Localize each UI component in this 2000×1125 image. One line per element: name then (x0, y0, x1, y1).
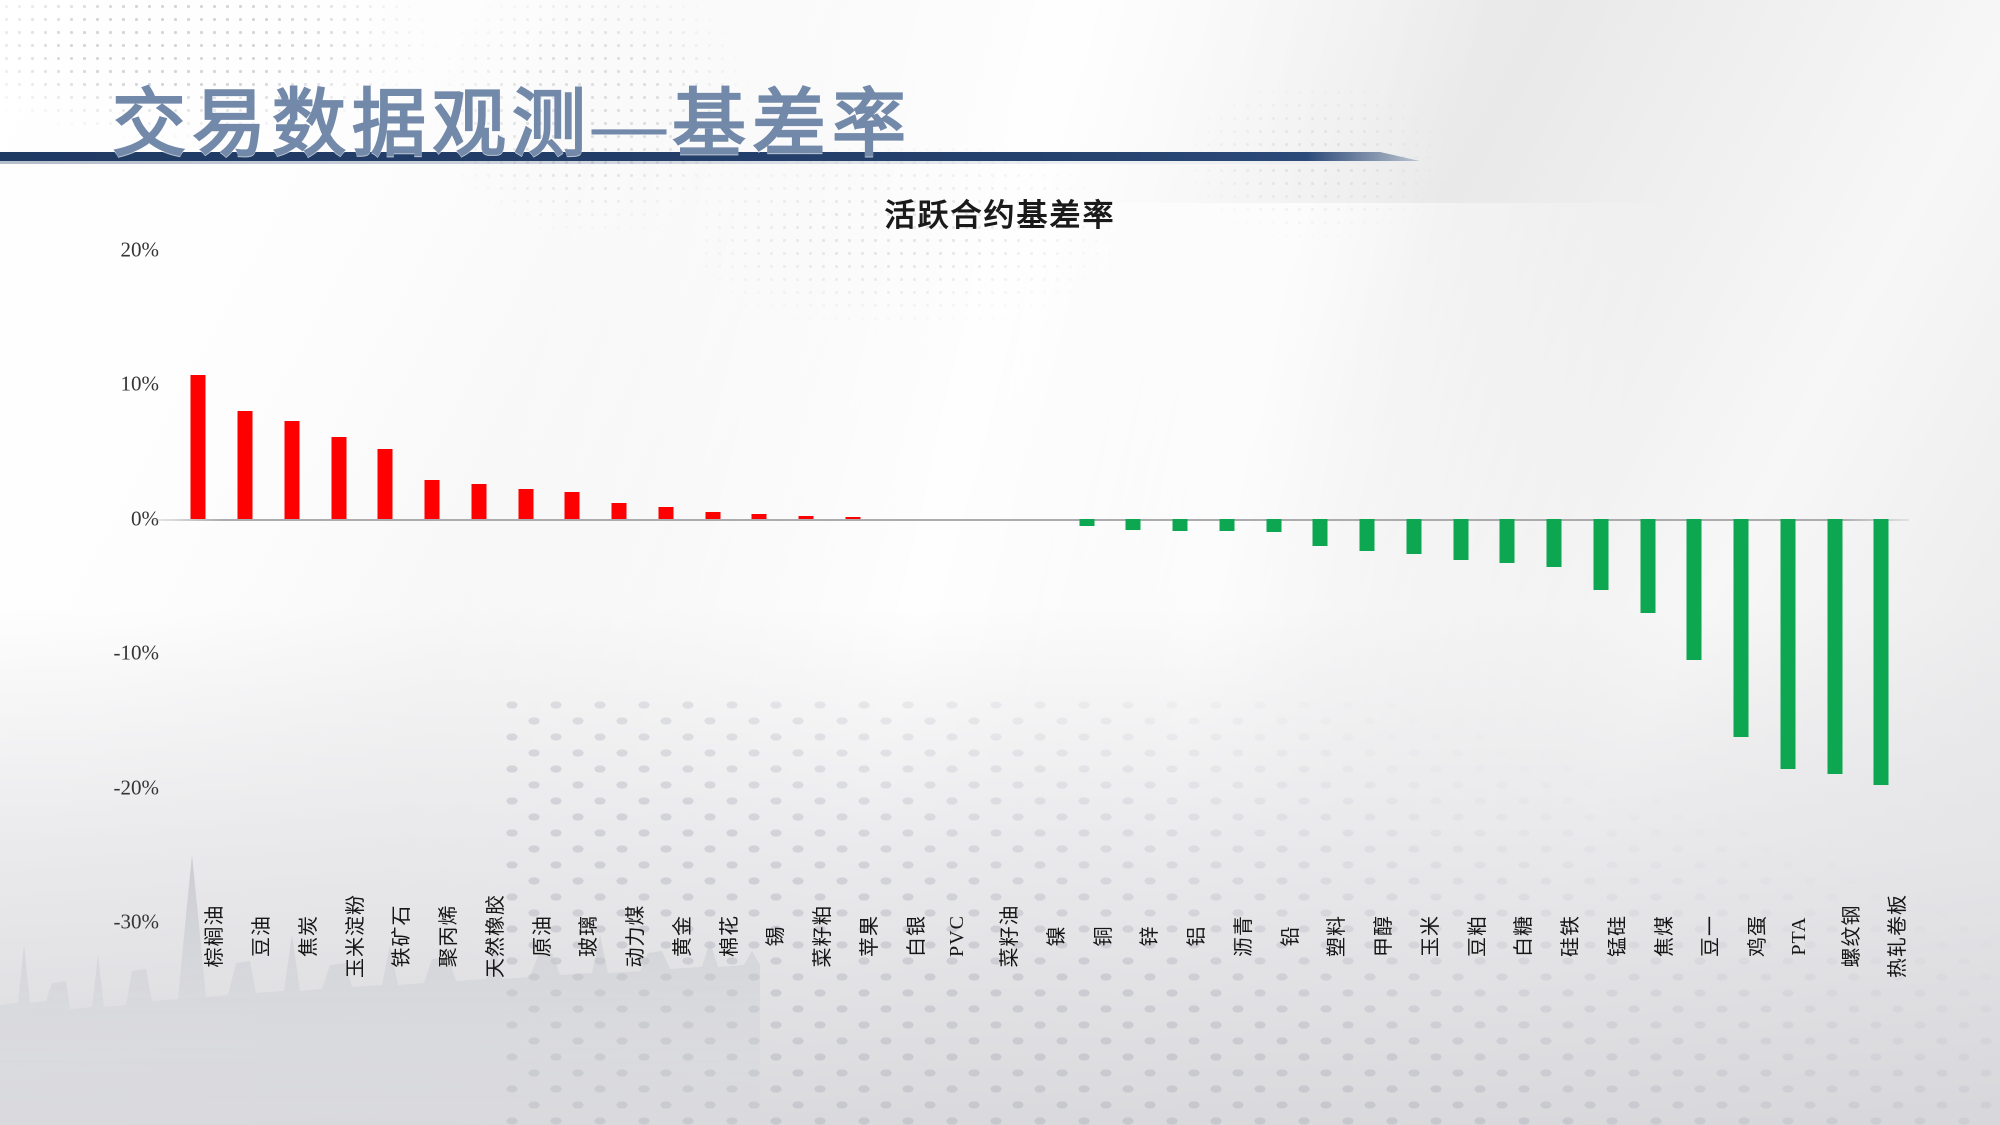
chart-bar[interactable] (378, 449, 393, 519)
chart-bar[interactable] (1500, 519, 1515, 563)
bar-slot: 聚丙烯 (409, 250, 456, 922)
chart-bar[interactable] (1734, 519, 1749, 737)
chart-bar[interactable] (658, 507, 673, 519)
chart-bar[interactable] (1126, 519, 1141, 530)
chart-bar[interactable] (1547, 519, 1562, 567)
bar-slot: 沥青 (1204, 250, 1251, 922)
y-axis-tick-label: -30% (114, 910, 160, 935)
chart-bar[interactable] (1874, 519, 1889, 785)
chart-bar[interactable] (1640, 519, 1655, 613)
bar-slot: 锌 (1110, 250, 1157, 922)
chart-bar[interactable] (1406, 519, 1421, 554)
chart-container: 活跃合约基差率 20%10%0%-10%-20%-30% 棕榈油豆油焦炭玉米淀粉… (0, 190, 2000, 1120)
bar-slot: 原油 (502, 250, 549, 922)
chart-bar[interactable] (471, 484, 486, 519)
y-axis-tick-label: 20% (121, 238, 160, 263)
bar-slot: 铁矿石 (362, 250, 409, 922)
bar-slot: 鸡蛋 (1718, 250, 1765, 922)
bar-slot: 焦炭 (269, 250, 316, 922)
chart-plot-area: 20%10%0%-10%-20%-30% 棕榈油豆油焦炭玉米淀粉铁矿石聚丙烯天然… (175, 250, 1905, 922)
chart-bar[interactable] (1173, 519, 1188, 531)
bar-slot: 塑料 (1297, 250, 1344, 922)
bar-slot: 白银 (876, 250, 923, 922)
x-axis-tick-label: 铝 (1180, 926, 1209, 947)
x-axis-tick-label: 热轧卷板 (1881, 894, 1910, 978)
bar-slot: 豆一 (1671, 250, 1718, 922)
bar-slot: 白糖 (1484, 250, 1531, 922)
x-axis-tick-label: 铜 (1087, 926, 1116, 947)
bar-slot: PVC (923, 250, 970, 922)
bar-slot: 豆粕 (1437, 250, 1484, 922)
bar-slot: 铝 (1157, 250, 1204, 922)
chart-bar[interactable] (1593, 519, 1608, 590)
x-axis-tick-label: 镍 (1040, 926, 1069, 947)
chart-bar[interactable] (1780, 519, 1795, 769)
bar-slot: 焦煤 (1624, 250, 1671, 922)
chart-bar[interactable] (1827, 519, 1842, 774)
bar-slot: 螺纹钢 (1811, 250, 1858, 922)
x-axis-tick-label: PTA (1788, 916, 1811, 955)
chart-title: 活跃合约基差率 (0, 190, 2000, 235)
chart-bar[interactable] (1079, 519, 1094, 526)
bar-slot: 棕榈油 (175, 250, 222, 922)
chart-bar[interactable] (1266, 519, 1281, 532)
bar-slot: 铅 (1250, 250, 1297, 922)
chart-bar[interactable] (752, 514, 767, 519)
y-axis-tick-label: 10% (121, 372, 160, 397)
chart-bar[interactable] (238, 411, 253, 519)
chart-bar[interactable] (612, 503, 627, 519)
chart-bar[interactable] (284, 421, 299, 519)
bar-slot: 菜籽油 (970, 250, 1017, 922)
chart-bar[interactable] (1453, 519, 1468, 561)
bar-slot: 棉花 (689, 250, 736, 922)
bar-slot: 黄金 (643, 250, 690, 922)
x-axis-tick-label: PVC (946, 915, 969, 957)
bar-slot: 甲醇 (1344, 250, 1391, 922)
bar-slot: 豆油 (222, 250, 269, 922)
chart-bar[interactable] (1360, 519, 1375, 551)
bar-slot: 菜籽粕 (783, 250, 830, 922)
bar-slot: 锰硅 (1578, 250, 1625, 922)
x-axis-tick-label: 锌 (1133, 926, 1162, 947)
x-axis-tick-label: 铅 (1274, 926, 1303, 947)
chart-bar[interactable] (565, 492, 580, 519)
chart-bar[interactable] (845, 517, 860, 519)
y-axis-tick-label: -10% (114, 641, 160, 666)
bar-slot: 镍 (1017, 250, 1064, 922)
chart-bar[interactable] (425, 480, 440, 519)
bar-slot: 铜 (1063, 250, 1110, 922)
bar-slot: 天然橡胶 (456, 250, 503, 922)
bar-slot: 热轧卷板 (1858, 250, 1905, 922)
slide-canvas: 交易数据观测—基差率 活跃合约基差率 20%10%0%-10%-20%-30% … (0, 0, 2000, 1125)
x-axis-tick-label: 锡 (759, 926, 788, 947)
bar-slot: 硅铁 (1531, 250, 1578, 922)
chart-bar[interactable] (1219, 519, 1234, 531)
bar-series: 棕榈油豆油焦炭玉米淀粉铁矿石聚丙烯天然橡胶原油玻璃动力煤黄金棉花锡菜籽粕苹果白银… (175, 250, 1905, 922)
chart-bar[interactable] (331, 437, 346, 519)
bar-slot: 玉米 (1391, 250, 1438, 922)
y-axis-tick-label: -20% (114, 775, 160, 800)
chart-bar[interactable] (191, 375, 206, 519)
bar-slot: 苹果 (830, 250, 877, 922)
bar-slot: 玻璃 (549, 250, 596, 922)
chart-bar[interactable] (799, 516, 814, 519)
bar-slot: 动力煤 (596, 250, 643, 922)
chart-bar[interactable] (1687, 519, 1702, 660)
bar-slot: 玉米淀粉 (315, 250, 362, 922)
chart-bar[interactable] (518, 489, 533, 519)
bar-slot: 锡 (736, 250, 783, 922)
chart-bar[interactable] (1313, 519, 1328, 546)
bar-slot: PTA (1765, 250, 1812, 922)
page-title: 交易数据观测—基差率 (112, 84, 912, 167)
chart-bar[interactable] (705, 512, 720, 519)
